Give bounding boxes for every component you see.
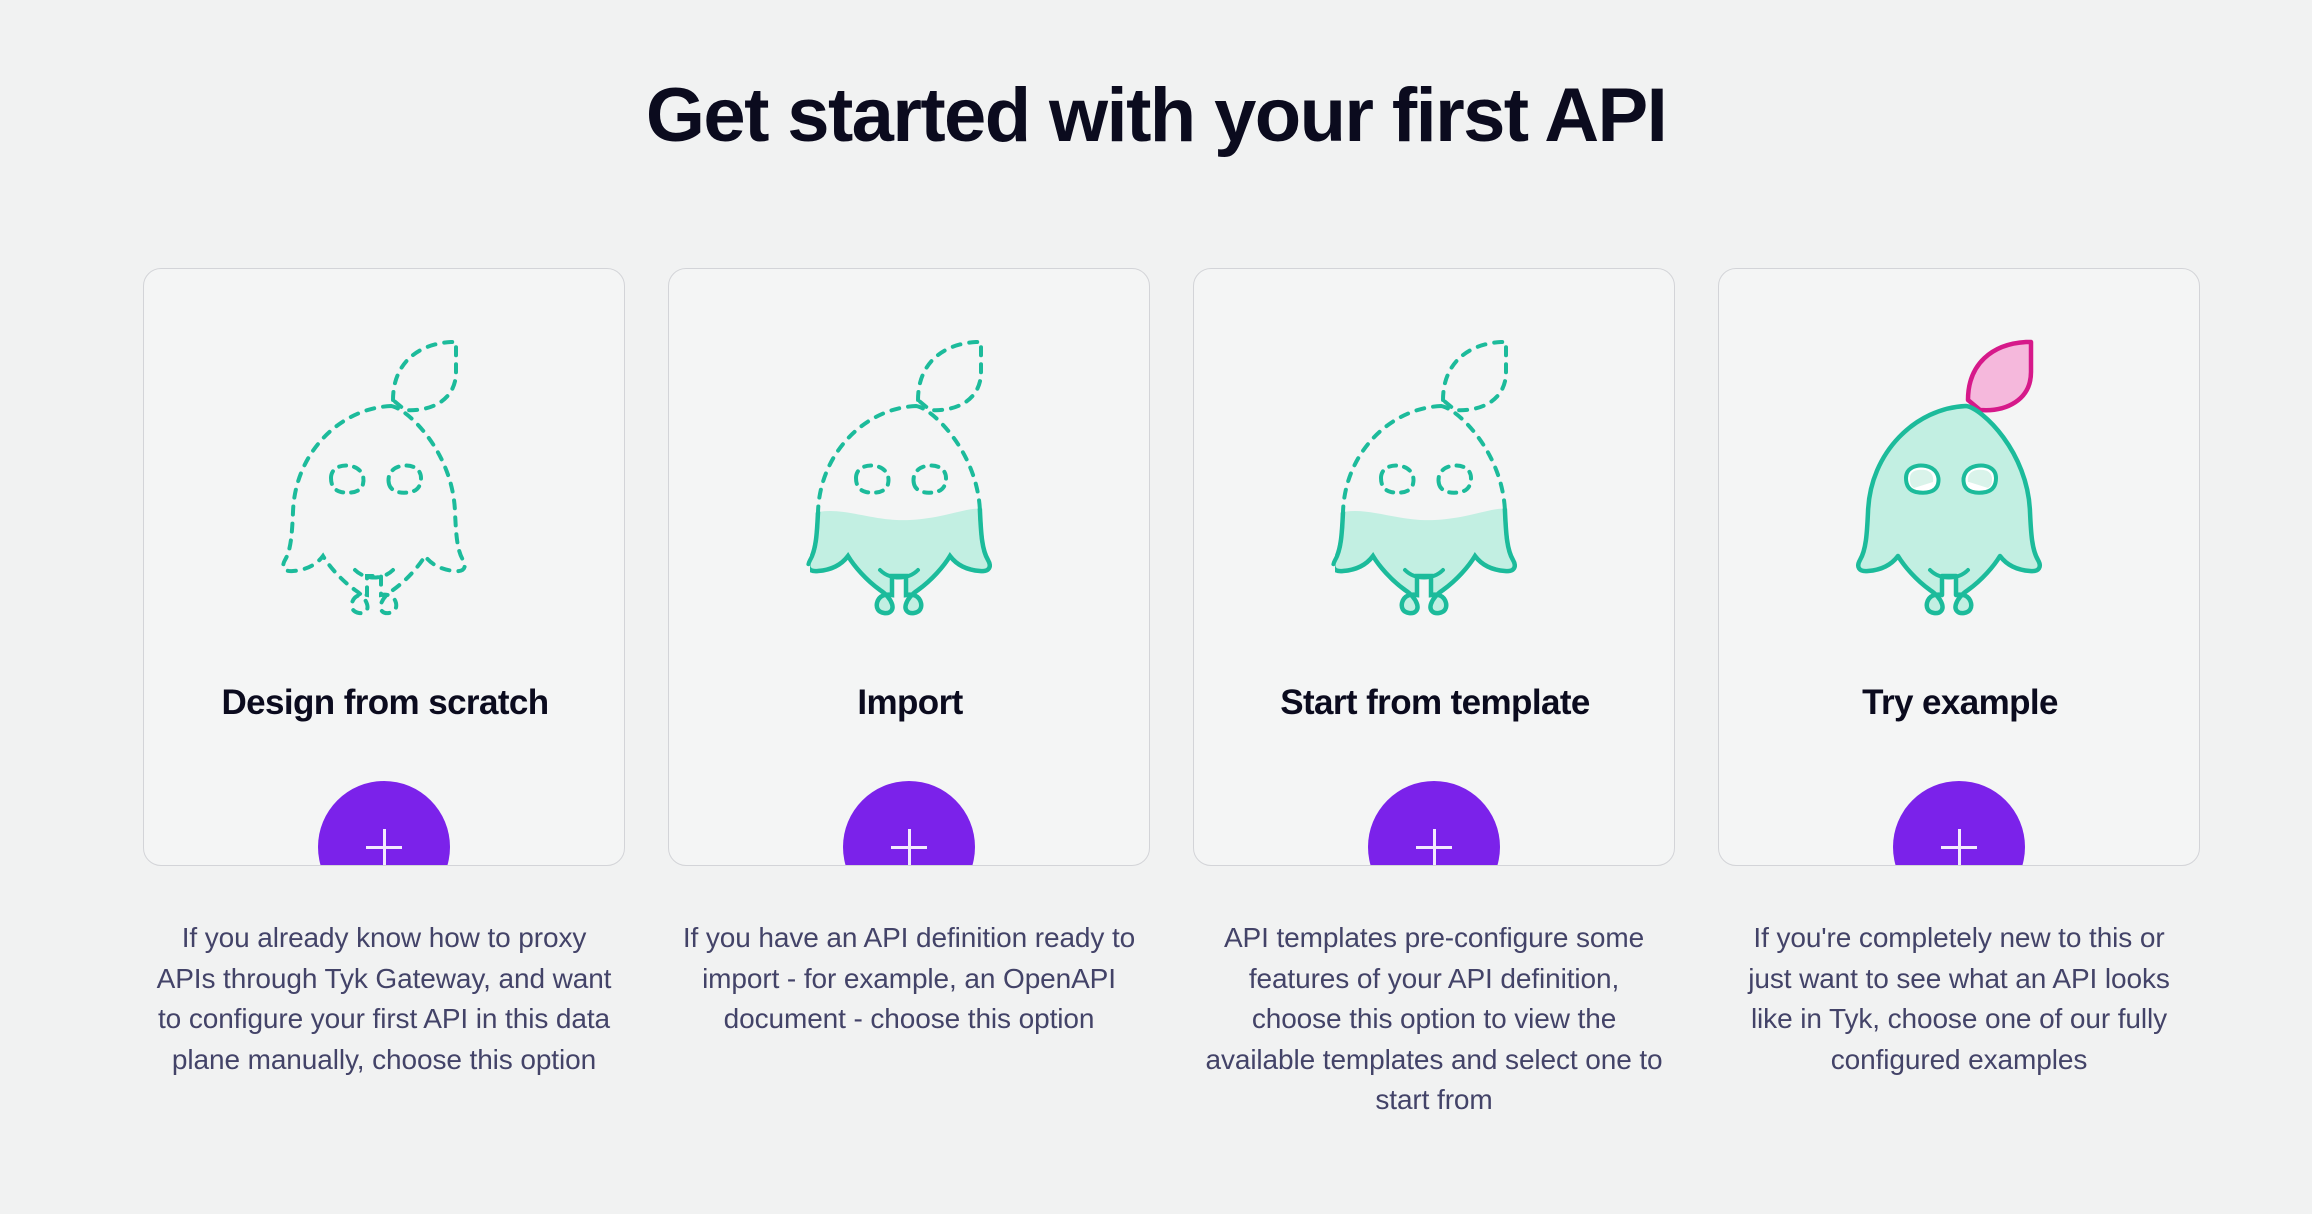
card-import[interactable]: Import [668,268,1150,866]
add-api-button-design-from-scratch[interactable] [318,781,450,866]
plus-icon [364,827,404,866]
card-description: If you're completely new to this or just… [1729,918,2189,1080]
tyk-mascot-outline-icon [255,318,515,618]
card-column-import: Import If you have an API definition rea… [668,268,1150,1121]
page-title: Get started with your first API [0,68,2312,164]
plus-icon [1939,827,1979,866]
card-description: If you already know how to proxy APIs th… [154,918,614,1080]
card-column-start-from-template: Start from template API templates pre-co… [1193,268,1675,1121]
card-try-example[interactable]: Try example [1718,268,2200,866]
mascot-illustration-wrap [1719,313,2200,623]
card-column-try-example: Try example If you're completely new to … [1718,268,2200,1121]
card-title: Start from template [1194,681,1675,725]
leaf-shape [1968,342,2031,410]
onboarding-page: Get started with your first API [0,0,2312,1214]
card-description: API templates pre-configure some feature… [1204,918,1664,1121]
mascot-illustration-wrap [1194,313,1675,623]
card-start-from-template[interactable]: Start from template [1193,268,1675,866]
add-api-button-try-example[interactable] [1893,781,2025,866]
plus-icon [889,827,929,866]
add-api-button-start-from-template[interactable] [1368,781,1500,866]
card-grid: Design from scratch If you already know … [143,268,2169,1121]
card-design-from-scratch[interactable]: Design from scratch [143,268,625,866]
card-title: Import [669,681,1150,725]
tyk-mascot-partial-icon [1305,318,1565,618]
plus-icon [1414,827,1454,866]
tyk-mascot-partial-icon [780,318,1040,618]
mascot-illustration-wrap [144,313,625,623]
card-column-design-from-scratch: Design from scratch If you already know … [143,268,625,1121]
mascot-illustration-wrap [669,313,1150,623]
add-api-button-import[interactable] [843,781,975,866]
card-title: Try example [1719,681,2200,725]
card-title: Design from scratch [144,681,625,725]
card-description: If you have an API definition ready to i… [679,918,1139,1040]
tyk-mascot-full-icon [1830,318,2090,618]
